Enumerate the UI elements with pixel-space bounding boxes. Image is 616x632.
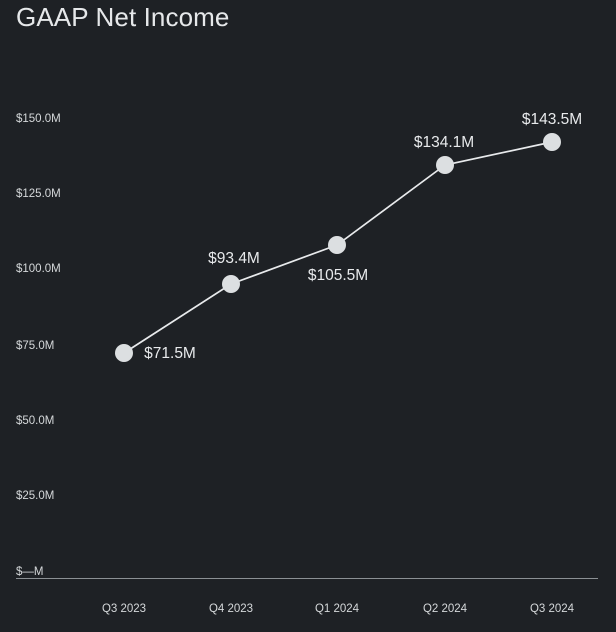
data-point-marker[interactable]	[222, 275, 240, 293]
data-label-q3-2023: $71.5M	[144, 345, 196, 363]
chart-container: GAAP Net Income $150.0M $125.0M $100.0M …	[0, 0, 616, 632]
data-label-q1-2024: $105.5M	[308, 267, 368, 285]
data-point-marker[interactable]	[436, 156, 454, 174]
data-point-marker[interactable]	[328, 236, 346, 254]
line-series-plot	[0, 0, 616, 632]
x-tick-label-q3-2023: Q3 2023	[102, 603, 146, 615]
x-tick-label-q4-2023: Q4 2023	[209, 603, 253, 615]
data-point-marker[interactable]	[115, 344, 133, 362]
data-label-q3-2024: $143.5M	[522, 111, 582, 129]
x-tick-label-q3-2024: Q3 2024	[530, 603, 574, 615]
x-tick-label-q2-2024: Q2 2024	[423, 603, 467, 615]
data-label-q4-2023: $93.4M	[208, 250, 260, 268]
data-point-marker[interactable]	[543, 133, 561, 151]
x-tick-label-q1-2024: Q1 2024	[315, 603, 359, 615]
data-label-q2-2024: $134.1M	[414, 134, 474, 152]
